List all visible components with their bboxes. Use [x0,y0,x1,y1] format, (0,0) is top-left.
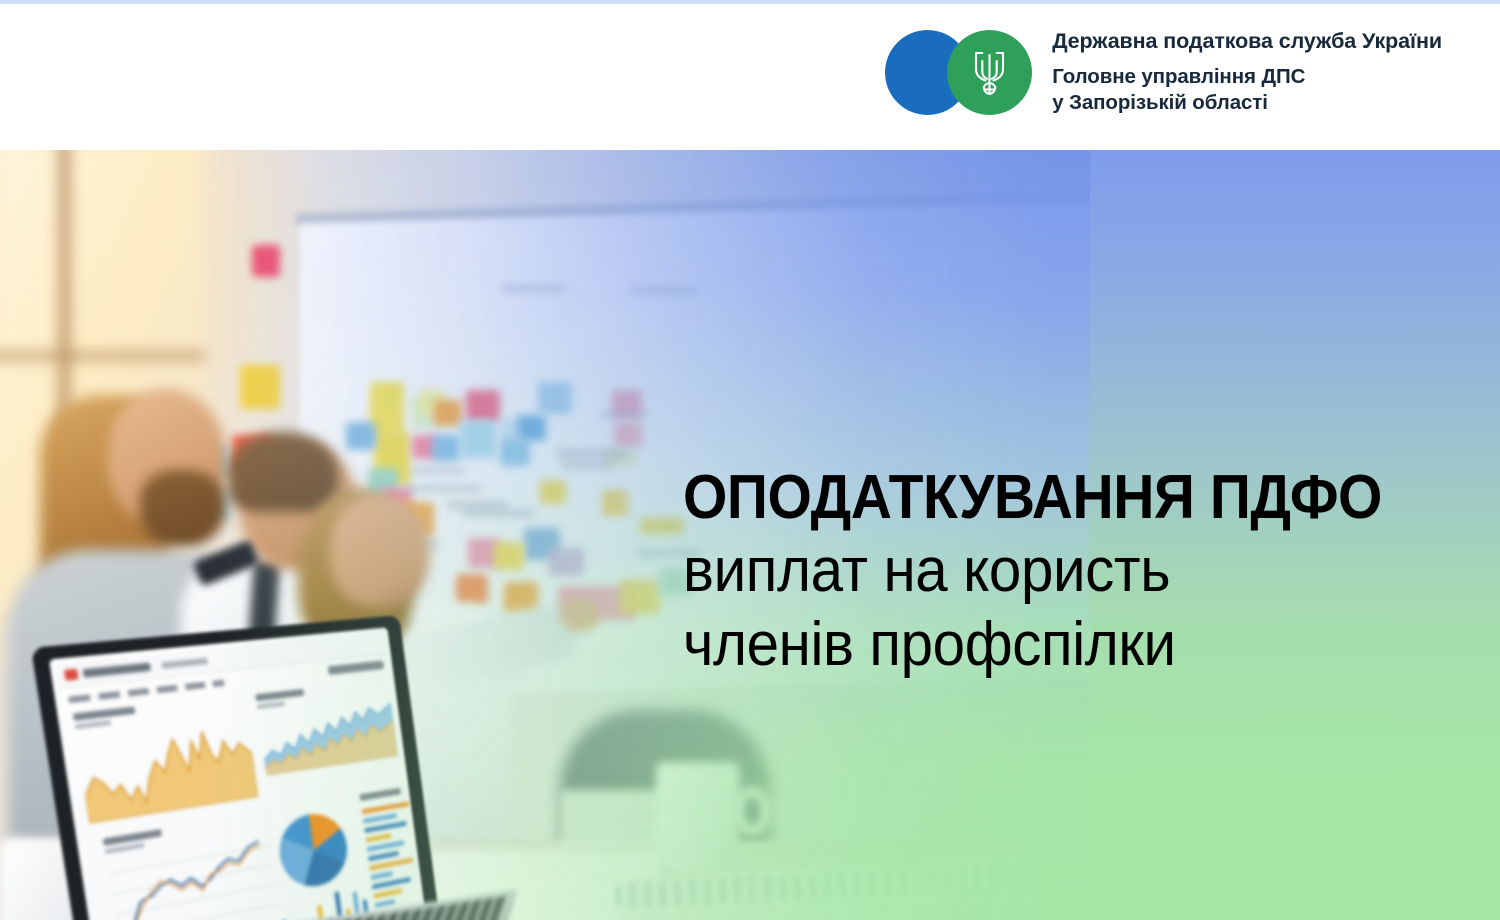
sticky-note [240,365,280,409]
org-line-1: Державна податкова служба України [1052,28,1442,55]
sticky-note [456,574,488,604]
person-two-hair [228,432,338,512]
line-chart [106,830,279,920]
person-three-hand [560,598,600,632]
desk-papers [1000,910,1420,920]
sticky-note [620,580,660,614]
panel-subtitle [257,701,286,709]
whiteboard-writing [446,502,508,508]
header-bar: Державна податкова служба України Головн… [0,4,1500,150]
sticky-note [460,420,496,458]
title-line-3: членів профспілки [683,610,1426,679]
whiteboard-writing [556,450,628,457]
title-line-2: виплат на користь [683,536,1426,605]
sticky-note [602,490,628,516]
org-line-3: у Запорізькій області [1052,90,1442,116]
sticky-note [346,422,376,450]
logo-marks [885,30,1032,115]
title-line-1: ОПОДАТКУВАННЯ ПДФО [683,466,1410,530]
person-three-head [330,495,430,607]
sticky-note [494,542,524,570]
sticky-note [500,438,530,466]
sticky-note [640,518,684,534]
page-title: ОПОДАТКУВАННЯ ПДФО виплат на користь чле… [683,466,1473,679]
org-line-2: Головне управління ДПС [1052,64,1442,90]
sticky-note [434,400,462,426]
sticky-note [432,435,460,461]
sticky-note [540,480,566,504]
sticky-note [538,382,572,414]
area-chart-blue [258,696,398,776]
whiteboard-writing [404,486,482,491]
organization-name-text: Державна податкова служба України Головн… [1052,26,1442,116]
dashboard-status-badge [328,660,385,675]
whiteboard-writing [410,468,466,473]
top-accent-strip [0,0,1500,4]
panel-title [255,689,304,702]
panel-title [73,706,136,721]
white-mug [656,762,740,872]
whiteboard-writing [600,412,646,417]
organization-logo-block: Державна податкова служба України Головн… [885,26,1442,116]
whiteboard-writing [630,288,698,293]
whiteboard-writing [500,286,566,291]
panel-title [359,788,401,801]
sticky-note [466,390,500,422]
laptop-screen [49,627,425,920]
ukraine-trident-icon [971,49,1008,97]
whiteboard-writing [462,510,534,516]
whiteboard-writing [560,462,614,468]
dashboard-logo-icon [64,669,79,681]
sticky-note [614,422,642,448]
window-frame-horizontal [0,350,205,362]
presentation-banner: Державна податкова служба України Головн… [0,0,1500,920]
sticky-note [548,548,584,576]
area-chart-orange [76,712,259,824]
pie-chart [275,809,351,892]
sticky-note [252,245,280,277]
